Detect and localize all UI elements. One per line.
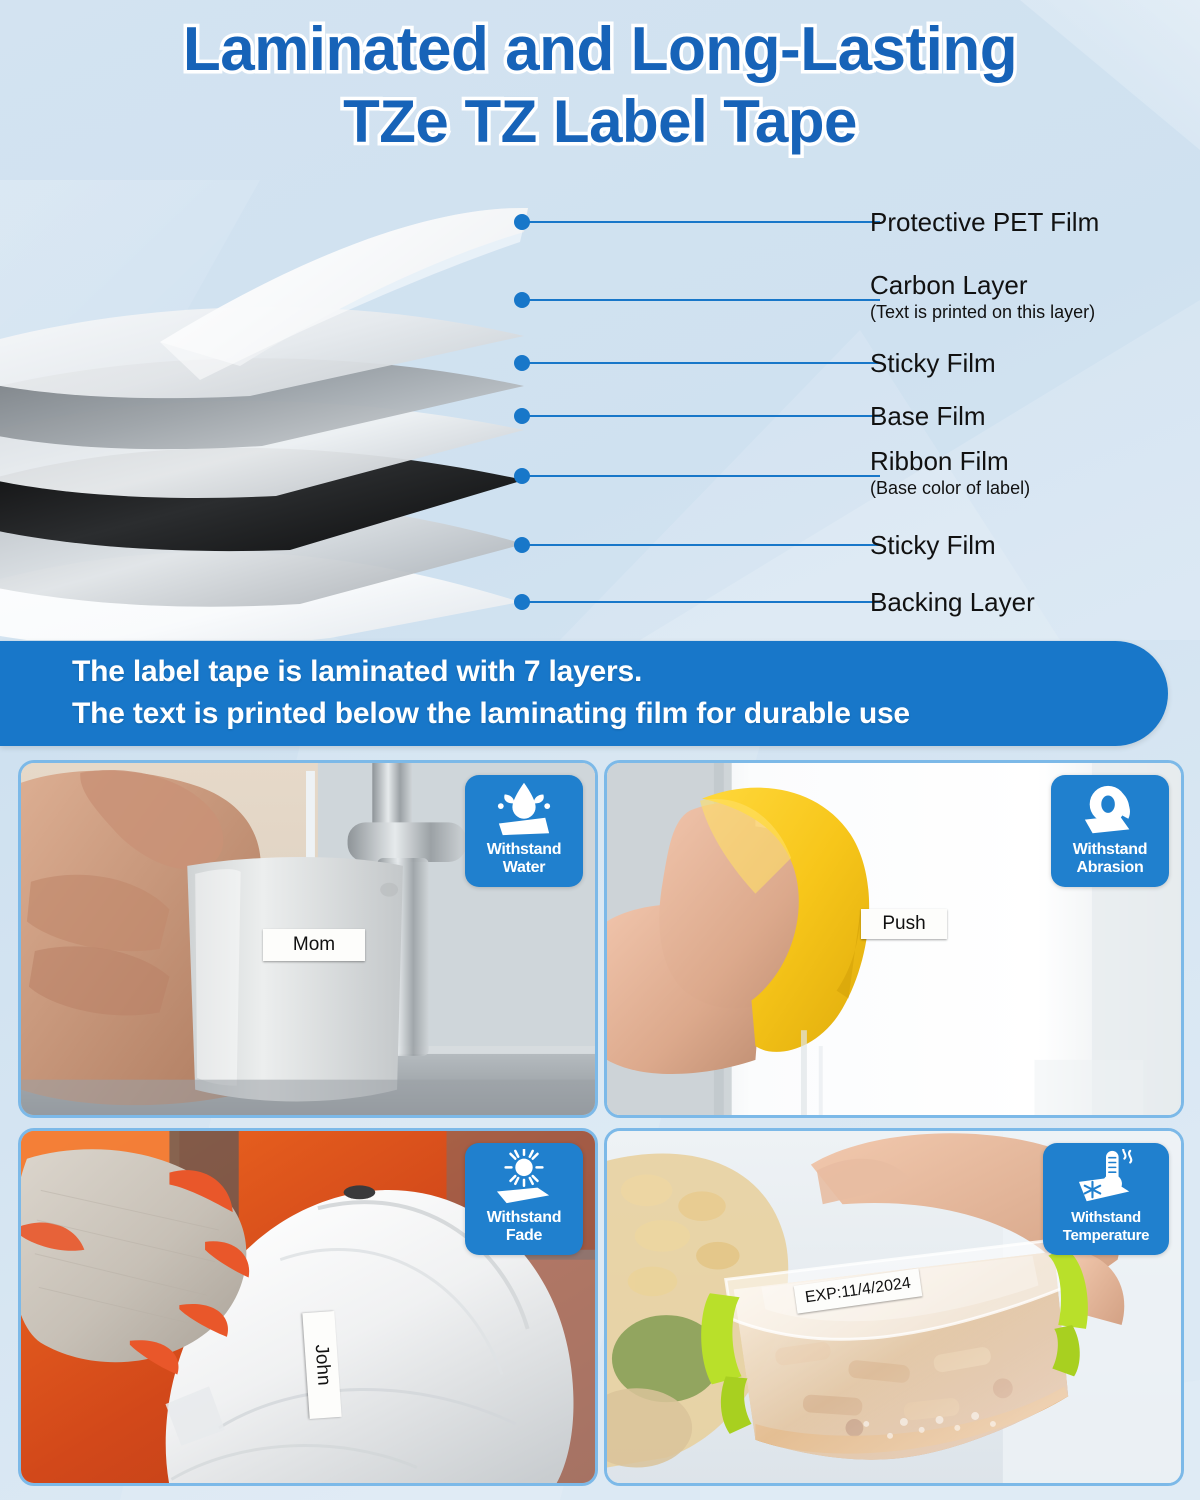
layer-label-3: Base Film (870, 401, 986, 432)
badge-water-line2: Water (503, 859, 545, 876)
layer-label-0-name: Protective PET Film (870, 207, 1099, 237)
layer-label-6-name: Backing Layer (870, 587, 1035, 617)
tape-roll-icon (1079, 781, 1141, 839)
layer-label-0: Protective PET Film (870, 207, 1099, 238)
badge-fade-text: Withstand Fade (487, 1209, 561, 1245)
layer-label-list: Protective PET Film Carbon Layer (Text i… (870, 190, 1200, 640)
badge-temperature-line1: Withstand (1071, 1209, 1141, 1226)
badge-abrasion-line1: Withstand (1073, 841, 1147, 858)
tape-label-mom: Mom (263, 929, 365, 961)
badge-withstand-temperature: Withstand Temperature (1043, 1143, 1169, 1255)
laminate-banner: The label tape is laminated with 7 layer… (0, 641, 1168, 746)
badge-water-line1: Withstand (487, 841, 561, 858)
badge-temperature-line2: Temperature (1063, 1227, 1149, 1244)
feature-photo-grid: Mom Withstand Water (18, 760, 1184, 1486)
layer-label-1-name: Carbon Layer (870, 270, 1028, 300)
layer-label-4-sub: (Base color of label) (870, 478, 1030, 499)
feature-card-fade: John Withstand Fade (18, 1128, 598, 1486)
badge-abrasion-line2: Abrasion (1077, 859, 1144, 876)
feature-card-abrasion: Push Withstand Abrasion (604, 760, 1184, 1118)
badge-water-text: Withstand Water (487, 841, 561, 877)
layer-label-2: Sticky Film (870, 348, 996, 379)
title-line-1: Laminated and Long-Lasting (0, 14, 1200, 86)
badge-temperature-text: Withstand Temperature (1063, 1209, 1149, 1245)
badge-fade-line2: Fade (506, 1227, 542, 1244)
thermometer-snowflake-icon (1075, 1149, 1137, 1207)
badge-withstand-fade: Withstand Fade (465, 1143, 583, 1255)
page-title: Laminated and Long-Lasting TZe TZ Label … (0, 14, 1200, 158)
layer-label-3-name: Base Film (870, 401, 986, 431)
layer-label-5: Sticky Film (870, 530, 996, 561)
layer-label-4: Ribbon Film (Base color of label) (870, 446, 1030, 499)
layer-label-2-name: Sticky Film (870, 348, 996, 378)
banner-line-1: The label tape is laminated with 7 layer… (72, 655, 642, 689)
layer-label-1: Carbon Layer (Text is printed on this la… (870, 270, 1095, 323)
tape-label-push: Push (861, 909, 947, 939)
layer-label-1-sub: (Text is printed on this layer) (870, 302, 1095, 323)
layer-label-5-name: Sticky Film (870, 530, 996, 560)
banner-line-2: The text is printed below the laminating… (72, 697, 910, 731)
water-drop-splash-icon (493, 781, 555, 839)
layer-label-6: Backing Layer (870, 587, 1035, 618)
title-line-2: TZe TZ Label Tape (0, 86, 1200, 158)
feature-card-temperature: EXP:11/4/2024 (604, 1128, 1184, 1486)
badge-withstand-water: Withstand Water (465, 775, 583, 887)
sun-over-label-icon (493, 1149, 555, 1207)
badge-fade-line1: Withstand (487, 1209, 561, 1226)
feature-card-water: Mom Withstand Water (18, 760, 598, 1118)
badge-abrasion-text: Withstand Abrasion (1073, 841, 1147, 877)
badge-withstand-abrasion: Withstand Abrasion (1051, 775, 1169, 887)
layer-label-4-name: Ribbon Film (870, 446, 1009, 476)
